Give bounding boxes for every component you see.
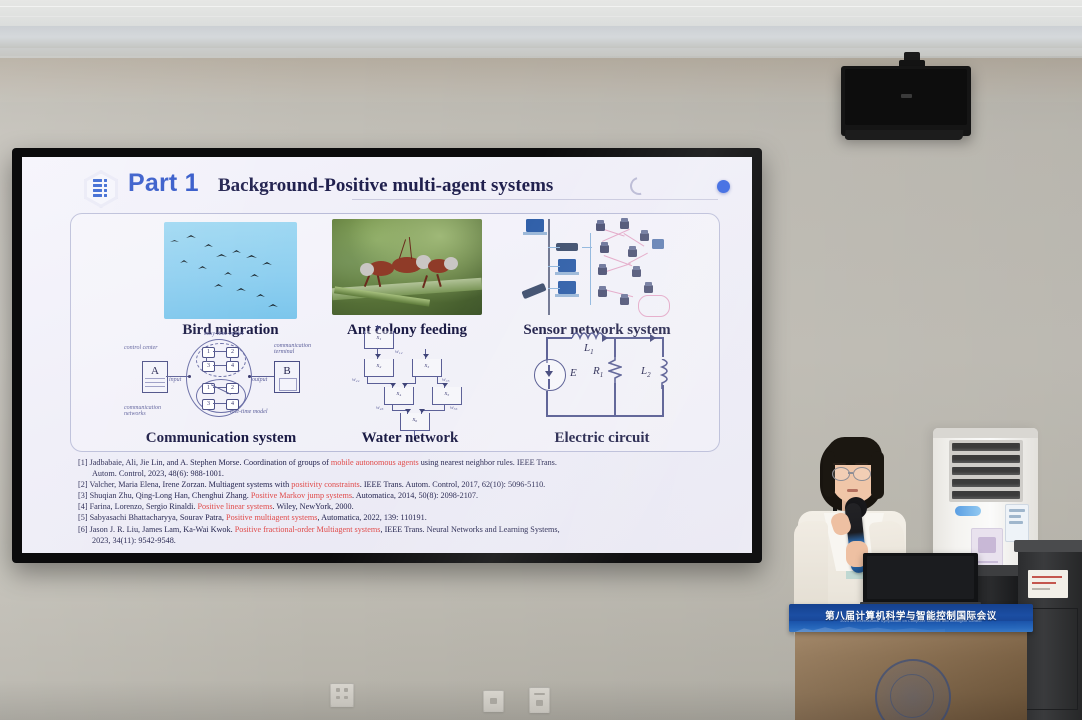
cs-box-b: B [275, 365, 299, 377]
diagram-electric-circuit: L1 E R1 L2 [530, 329, 670, 425]
diagram-sensor-network [520, 211, 672, 323]
reference-text: using nearest neighbor rules. IEEE Trans… [419, 458, 557, 467]
label-R1: R1 [593, 365, 603, 379]
ac-display-panel[interactable] [1005, 504, 1029, 542]
presentation-slide: Part 1 Background-Positive multi-agent s… [22, 157, 752, 553]
cs-box-a: A [143, 365, 167, 377]
inductor-2-symbol [658, 359, 670, 389]
ceiling-beam [0, 26, 1082, 48]
reference-item: [1] Jadbabaie, Ali, Jie Lin, and A. Step… [78, 457, 726, 468]
reference-highlight: Positive fractional-order Multiagent sys… [235, 525, 381, 534]
cs-label-terminal: communication terminal [274, 343, 318, 355]
caption-comm: Communication system [126, 430, 316, 447]
reference-item: [4] Farina, Lorenzo, Sergio Rinaldi. Pos… [78, 501, 726, 512]
glasses-icon [853, 467, 871, 481]
cs-label-busy-mode: busy-time model [204, 331, 244, 337]
ac-vent-grille [949, 440, 1023, 502]
reference-highlight: Positive multiagent systems [226, 513, 317, 522]
slide-part-label: Part 1 [128, 169, 199, 198]
reference-text: . IEEE Trans. Autom. Control, 2017, 62(1… [360, 480, 546, 489]
reference-number: [1] [78, 458, 90, 467]
reference-highlight: positivity constraints [291, 480, 359, 489]
reference-text: , IEEE Trans. Neural Networks and Learni… [380, 525, 559, 534]
reference-number: [3] [78, 491, 90, 500]
reference-text: . Automatica, 2014, 50(8): 2098-2107. [352, 491, 478, 500]
reference-number: [5] [78, 513, 90, 522]
conference-room-photo: Part 1 Background-Positive multi-agent s… [0, 0, 1082, 720]
label-E: E [570, 367, 577, 379]
reference-text: Jadbabaie, Ali, Jie Lin, and A. Stephen … [90, 458, 331, 467]
ceiling [0, 0, 1082, 58]
podium [795, 629, 1027, 720]
reference-item: [5] Sabyasachi Bhattacharyya, Sourav Pat… [78, 512, 726, 523]
caption-water: Water network [330, 430, 490, 447]
reference-highlight: Positive Markov jump systems [251, 491, 352, 500]
cs-label-control-center: control center [124, 345, 158, 351]
diagram-water-network: x₁ x₂ x₃ x₄ x₅ x₆ [340, 325, 480, 429]
reference-text: . Wiley, NewYork, 2000. [273, 502, 354, 511]
resistor-symbol [608, 357, 622, 385]
reference-item: [2] Valcher, Maria Elena, Irene Zorzan. … [78, 479, 726, 490]
presenter-laptop[interactable] [863, 553, 978, 609]
ac-brand-logo [955, 506, 981, 516]
reference-text: Farina, Lorenzo, Sergio Rinaldi. [90, 502, 198, 511]
cs-label-networks: communication networks [124, 405, 170, 417]
diagram-communication-system: control center busy-time model communica… [122, 329, 318, 425]
glasses-icon [832, 467, 850, 481]
banner-title-en: 2024 8th International Symposium on Comp… [789, 619, 1033, 623]
reference-text: , Automatica, 2022, 139: 110191. [317, 513, 426, 522]
caption-circuit: Electric circuit [522, 430, 682, 447]
equipment-cabinet [1018, 548, 1082, 720]
reference-number: [4] [78, 502, 90, 511]
reference-number: [6] [78, 525, 90, 534]
label-L2: L2 [641, 365, 651, 379]
reference-text: Sabyasachi Bhattacharyya, Sourav Patra, [90, 513, 226, 522]
reference-continuation: Autom. Control, 2023, 48(6): 988-1001. [78, 468, 726, 479]
reference-continuation: 2023, 34(11): 9542-9548. [78, 535, 726, 546]
wall-socket-panel[interactable] [330, 683, 354, 707]
blue-dot-icon [717, 180, 730, 193]
podium-banner: 第八届计算机科学与智能控制国际会议 2024 8th International… [789, 604, 1033, 632]
wall-switch-panel[interactable] [483, 690, 504, 712]
reference-highlight: mobile autonomous agents [331, 458, 419, 467]
references-list: [1] Jadbabaie, Ali, Jie Lin, and A. Step… [78, 457, 726, 546]
page-title: Background-Positive multi-agent systems [218, 175, 553, 197]
reference-item: [3] Shuqian Zhu, Qing-Long Han, Chenghui… [78, 490, 726, 501]
reference-highlight: Positive linear systems [197, 502, 272, 511]
reference-text: Jason J. R. Liu, James Lam, Ka-Wai Kwok. [90, 525, 235, 534]
hex-server-icon [84, 170, 118, 208]
cabinet-label [1028, 570, 1068, 598]
wall-mounted-display: Part 1 Background-Positive multi-agent s… [12, 148, 762, 563]
loading-spinner-icon [627, 174, 652, 199]
reference-item: [6] Jason J. R. Liu, James Lam, Ka-Wai K… [78, 524, 726, 535]
title-divider [352, 199, 718, 200]
reference-number: [2] [78, 480, 89, 489]
reference-text: Valcher, Maria Elena, Irene Zorzan. Mult… [89, 480, 291, 489]
photo-birds-flying [164, 222, 297, 319]
label-L1: L1 [584, 342, 594, 356]
photo-ants-feeding [332, 219, 482, 315]
reference-text: Shuqian Zhu, Qing-Long Han, Chenghui Zha… [90, 491, 251, 500]
wall-data-panel[interactable] [529, 687, 550, 713]
